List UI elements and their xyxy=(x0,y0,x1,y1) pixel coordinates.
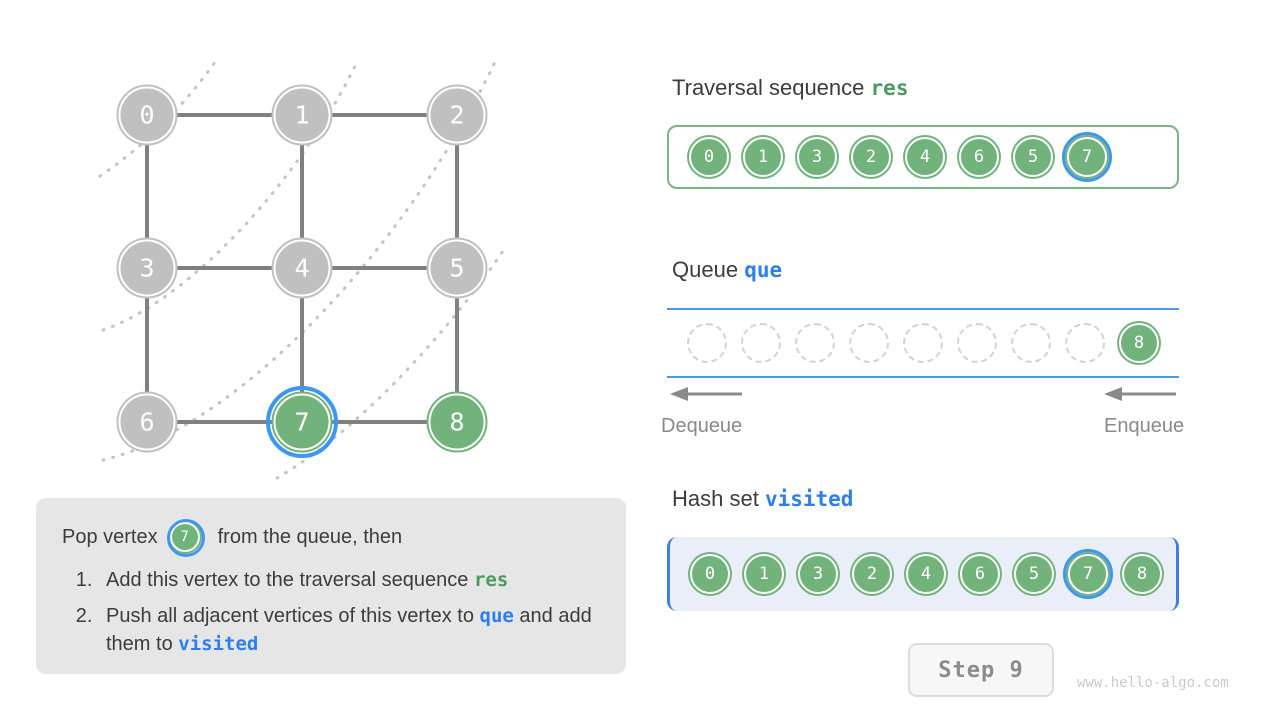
hashset-title-text: Hash set xyxy=(672,486,759,511)
queue-empty-slot-6 xyxy=(1011,323,1051,363)
caption-step-list: Add this vertex to the traversal sequenc… xyxy=(62,566,602,658)
visited-item-2-label: 2 xyxy=(867,566,877,583)
res-item-0: 0 xyxy=(689,137,729,177)
queue-empty-slot-1 xyxy=(741,323,781,363)
caption-vertex-label: 7 xyxy=(180,530,188,544)
res-item-5-label: 5 xyxy=(1028,149,1038,166)
graph-nodes: 012345678 xyxy=(118,86,487,457)
caption-vertex-badge: 7 xyxy=(170,522,200,552)
res-item-2: 2 xyxy=(851,137,891,177)
res-item-4: 4 xyxy=(905,137,945,177)
graph-diagram: 012345678 xyxy=(0,0,560,500)
graph-node-8-label: 8 xyxy=(449,408,464,437)
caption-lead-before: Pop vertex xyxy=(62,526,158,549)
graph-node-7[interactable]: 7 xyxy=(268,388,336,456)
res-item-7: 7 xyxy=(1067,137,1107,177)
res-item-4-label: 4 xyxy=(920,149,930,166)
visited-item-6: 6 xyxy=(960,554,1000,594)
queue-title-code: que xyxy=(744,258,782,282)
graph-node-6-label: 6 xyxy=(139,408,154,437)
caption-step2-code-b: visited xyxy=(178,633,258,655)
res-item-2-label: 2 xyxy=(866,149,876,166)
graph-node-4[interactable]: 4 xyxy=(273,239,332,298)
visited-item-5-label: 5 xyxy=(1029,566,1039,583)
res-item-1: 1 xyxy=(743,137,783,177)
res-item-1-label: 1 xyxy=(758,149,768,166)
res-item-0-label: 0 xyxy=(704,149,714,166)
res-item-3: 3 xyxy=(797,137,837,177)
visited-item-8-label: 8 xyxy=(1137,566,1147,583)
res-section-title: Traversal sequence res xyxy=(672,75,908,101)
graph-node-3[interactable]: 3 xyxy=(118,239,177,298)
graph-node-1-label: 1 xyxy=(294,101,309,130)
queue-empty-slot-2 xyxy=(795,323,835,363)
dequeue-label: Dequeue xyxy=(661,415,742,438)
caption-panel: Pop vertex 7 from the queue, then Add th… xyxy=(36,498,626,674)
graph-node-1[interactable]: 1 xyxy=(273,86,332,145)
graph-node-5[interactable]: 5 xyxy=(428,239,487,298)
queue-empty-slot-7 xyxy=(1065,323,1105,363)
visited-item-0-label: 0 xyxy=(705,566,715,583)
step-indicator: Step 9 xyxy=(908,643,1054,697)
enqueue-arrow-icon xyxy=(1104,385,1176,403)
caption-step-2: Push all adjacent vertices of this verte… xyxy=(98,602,602,658)
graph-node-0-label: 0 xyxy=(139,101,154,130)
visited-item-4: 4 xyxy=(906,554,946,594)
dequeue-arrow-icon xyxy=(670,385,742,403)
queue-empty-slot-3 xyxy=(849,323,889,363)
queue-empty-slot-4 xyxy=(903,323,943,363)
visited-item-8: 8 xyxy=(1122,554,1162,594)
visited-item-3: 3 xyxy=(798,554,838,594)
res-item-6: 6 xyxy=(959,137,999,177)
visited-item-1: 1 xyxy=(744,554,784,594)
visited-item-7: 7 xyxy=(1068,554,1108,594)
visited-item-3-label: 3 xyxy=(813,566,823,583)
traversal-sequence-container: 01324657 xyxy=(667,125,1179,189)
caption-step1-text: Add this vertex to the traversal sequenc… xyxy=(106,569,468,591)
hashset-title-code: visited xyxy=(765,487,854,511)
queue-item-8-label: 8 xyxy=(1134,335,1144,352)
graph-node-0[interactable]: 0 xyxy=(118,86,177,145)
graph-node-8[interactable]: 8 xyxy=(428,393,487,452)
queue-slots: 8 xyxy=(667,310,1179,376)
visited-item-7-label: 7 xyxy=(1083,566,1093,583)
res-item-3-label: 3 xyxy=(812,149,822,166)
visited-item-1-label: 1 xyxy=(759,566,769,583)
queue-empty-slot-0 xyxy=(687,323,727,363)
graph-node-2-label: 2 xyxy=(449,101,464,130)
hashset-section-title: Hash set visited xyxy=(672,486,853,512)
slide-canvas: 012345678 Traversal sequence res 0132465… xyxy=(0,0,1280,720)
visited-item-0: 0 xyxy=(690,554,730,594)
visited-item-6-label: 6 xyxy=(975,566,985,583)
queue-container: 8 xyxy=(667,308,1179,378)
res-item-6-label: 6 xyxy=(974,149,984,166)
res-item-5: 5 xyxy=(1013,137,1053,177)
queue-title-text: Queue xyxy=(672,257,738,282)
caption-step1-code: res xyxy=(474,569,508,591)
caption-lead-line: Pop vertex 7 from the queue, then xyxy=(62,522,602,552)
visited-item-2: 2 xyxy=(852,554,892,594)
step-label: Step 9 xyxy=(938,658,1023,683)
queue-empty-slot-5 xyxy=(957,323,997,363)
visited-item-5: 5 xyxy=(1014,554,1054,594)
visited-item-4-label: 4 xyxy=(921,566,931,583)
watermark: www.hello-algo.com xyxy=(1077,675,1229,691)
graph-node-5-label: 5 xyxy=(449,254,464,283)
queue-item-8: 8 xyxy=(1119,323,1159,363)
graph-node-3-label: 3 xyxy=(139,254,154,283)
queue-direction-arrows xyxy=(662,385,1184,405)
queue-bottom-rail xyxy=(667,376,1179,378)
graph-node-4-label: 4 xyxy=(294,254,309,283)
queue-section-title: Queue que xyxy=(672,257,782,283)
visited-set-container: 013246578 xyxy=(667,537,1179,611)
caption-step2-text-a: Push all adjacent vertices of this verte… xyxy=(106,605,474,627)
res-title-text: Traversal sequence xyxy=(672,75,864,100)
caption-step-1: Add this vertex to the traversal sequenc… xyxy=(98,566,602,594)
enqueue-label: Enqueue xyxy=(1104,415,1184,438)
graph-node-2[interactable]: 2 xyxy=(428,86,487,145)
res-item-7-label: 7 xyxy=(1082,149,1092,166)
caption-lead-after: from the queue, then xyxy=(218,526,403,549)
graph-node-7-label: 7 xyxy=(294,408,309,437)
graph-node-6[interactable]: 6 xyxy=(118,393,177,452)
caption-step2-code-a: que xyxy=(480,605,514,627)
res-title-code: res xyxy=(871,76,909,100)
